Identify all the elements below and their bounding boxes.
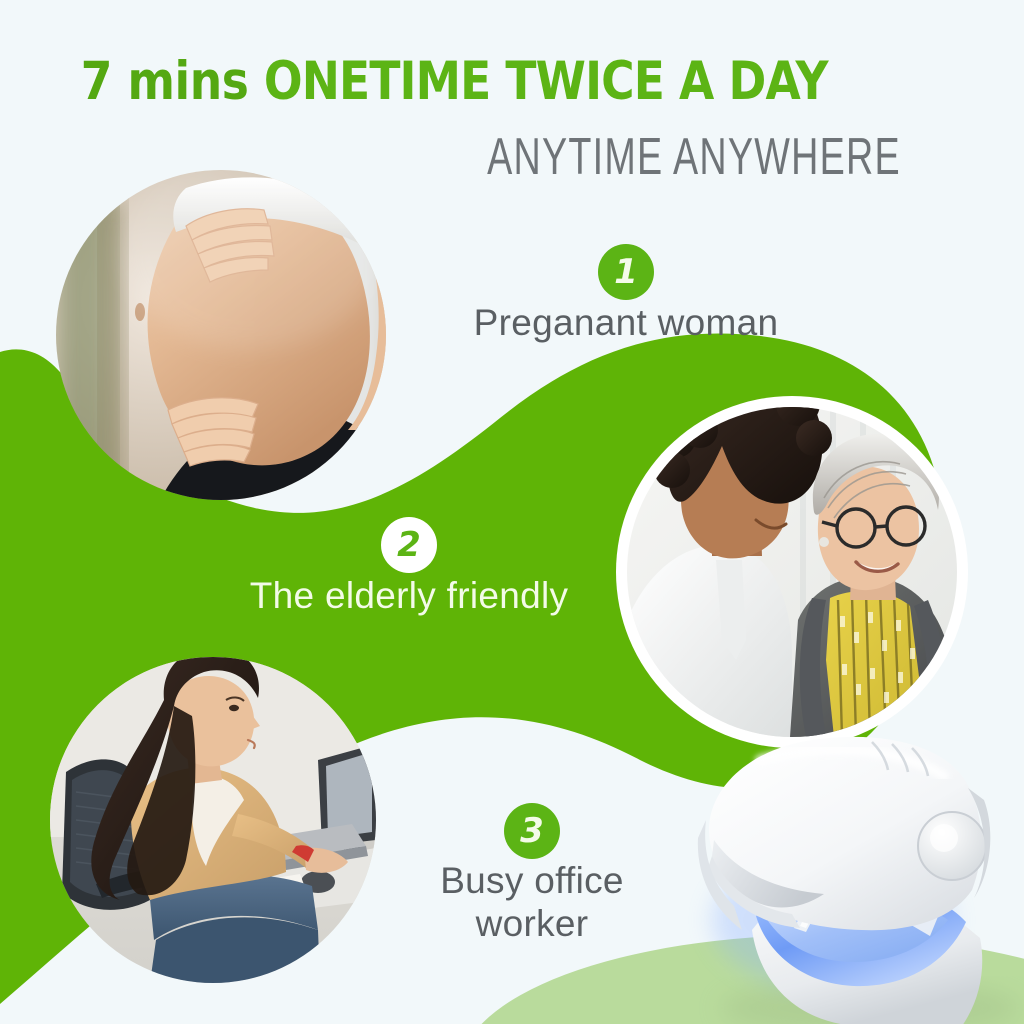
page-headline: 7 mins ONETIME TWICE A DAY [50,52,858,112]
step-badge-3: 3 [504,803,560,859]
step-caption-1: Preganant woman [406,302,846,345]
page-subheadline: ANYTIME ANYWHERE [456,125,932,188]
step-caption-3: Busy office worker [312,860,752,945]
infographic-canvas: 7 mins ONETIME TWICE A DAY ANYTIME ANYWH… [0,0,1024,1024]
step-badge-2: 2 [381,517,437,573]
step-caption-2: The elderly friendly [189,575,629,618]
headline-frequency: ONETIME TWICE A DAY [264,51,828,112]
headline-duration: 7 mins [81,51,249,112]
step-badge-1: 1 [598,244,654,300]
